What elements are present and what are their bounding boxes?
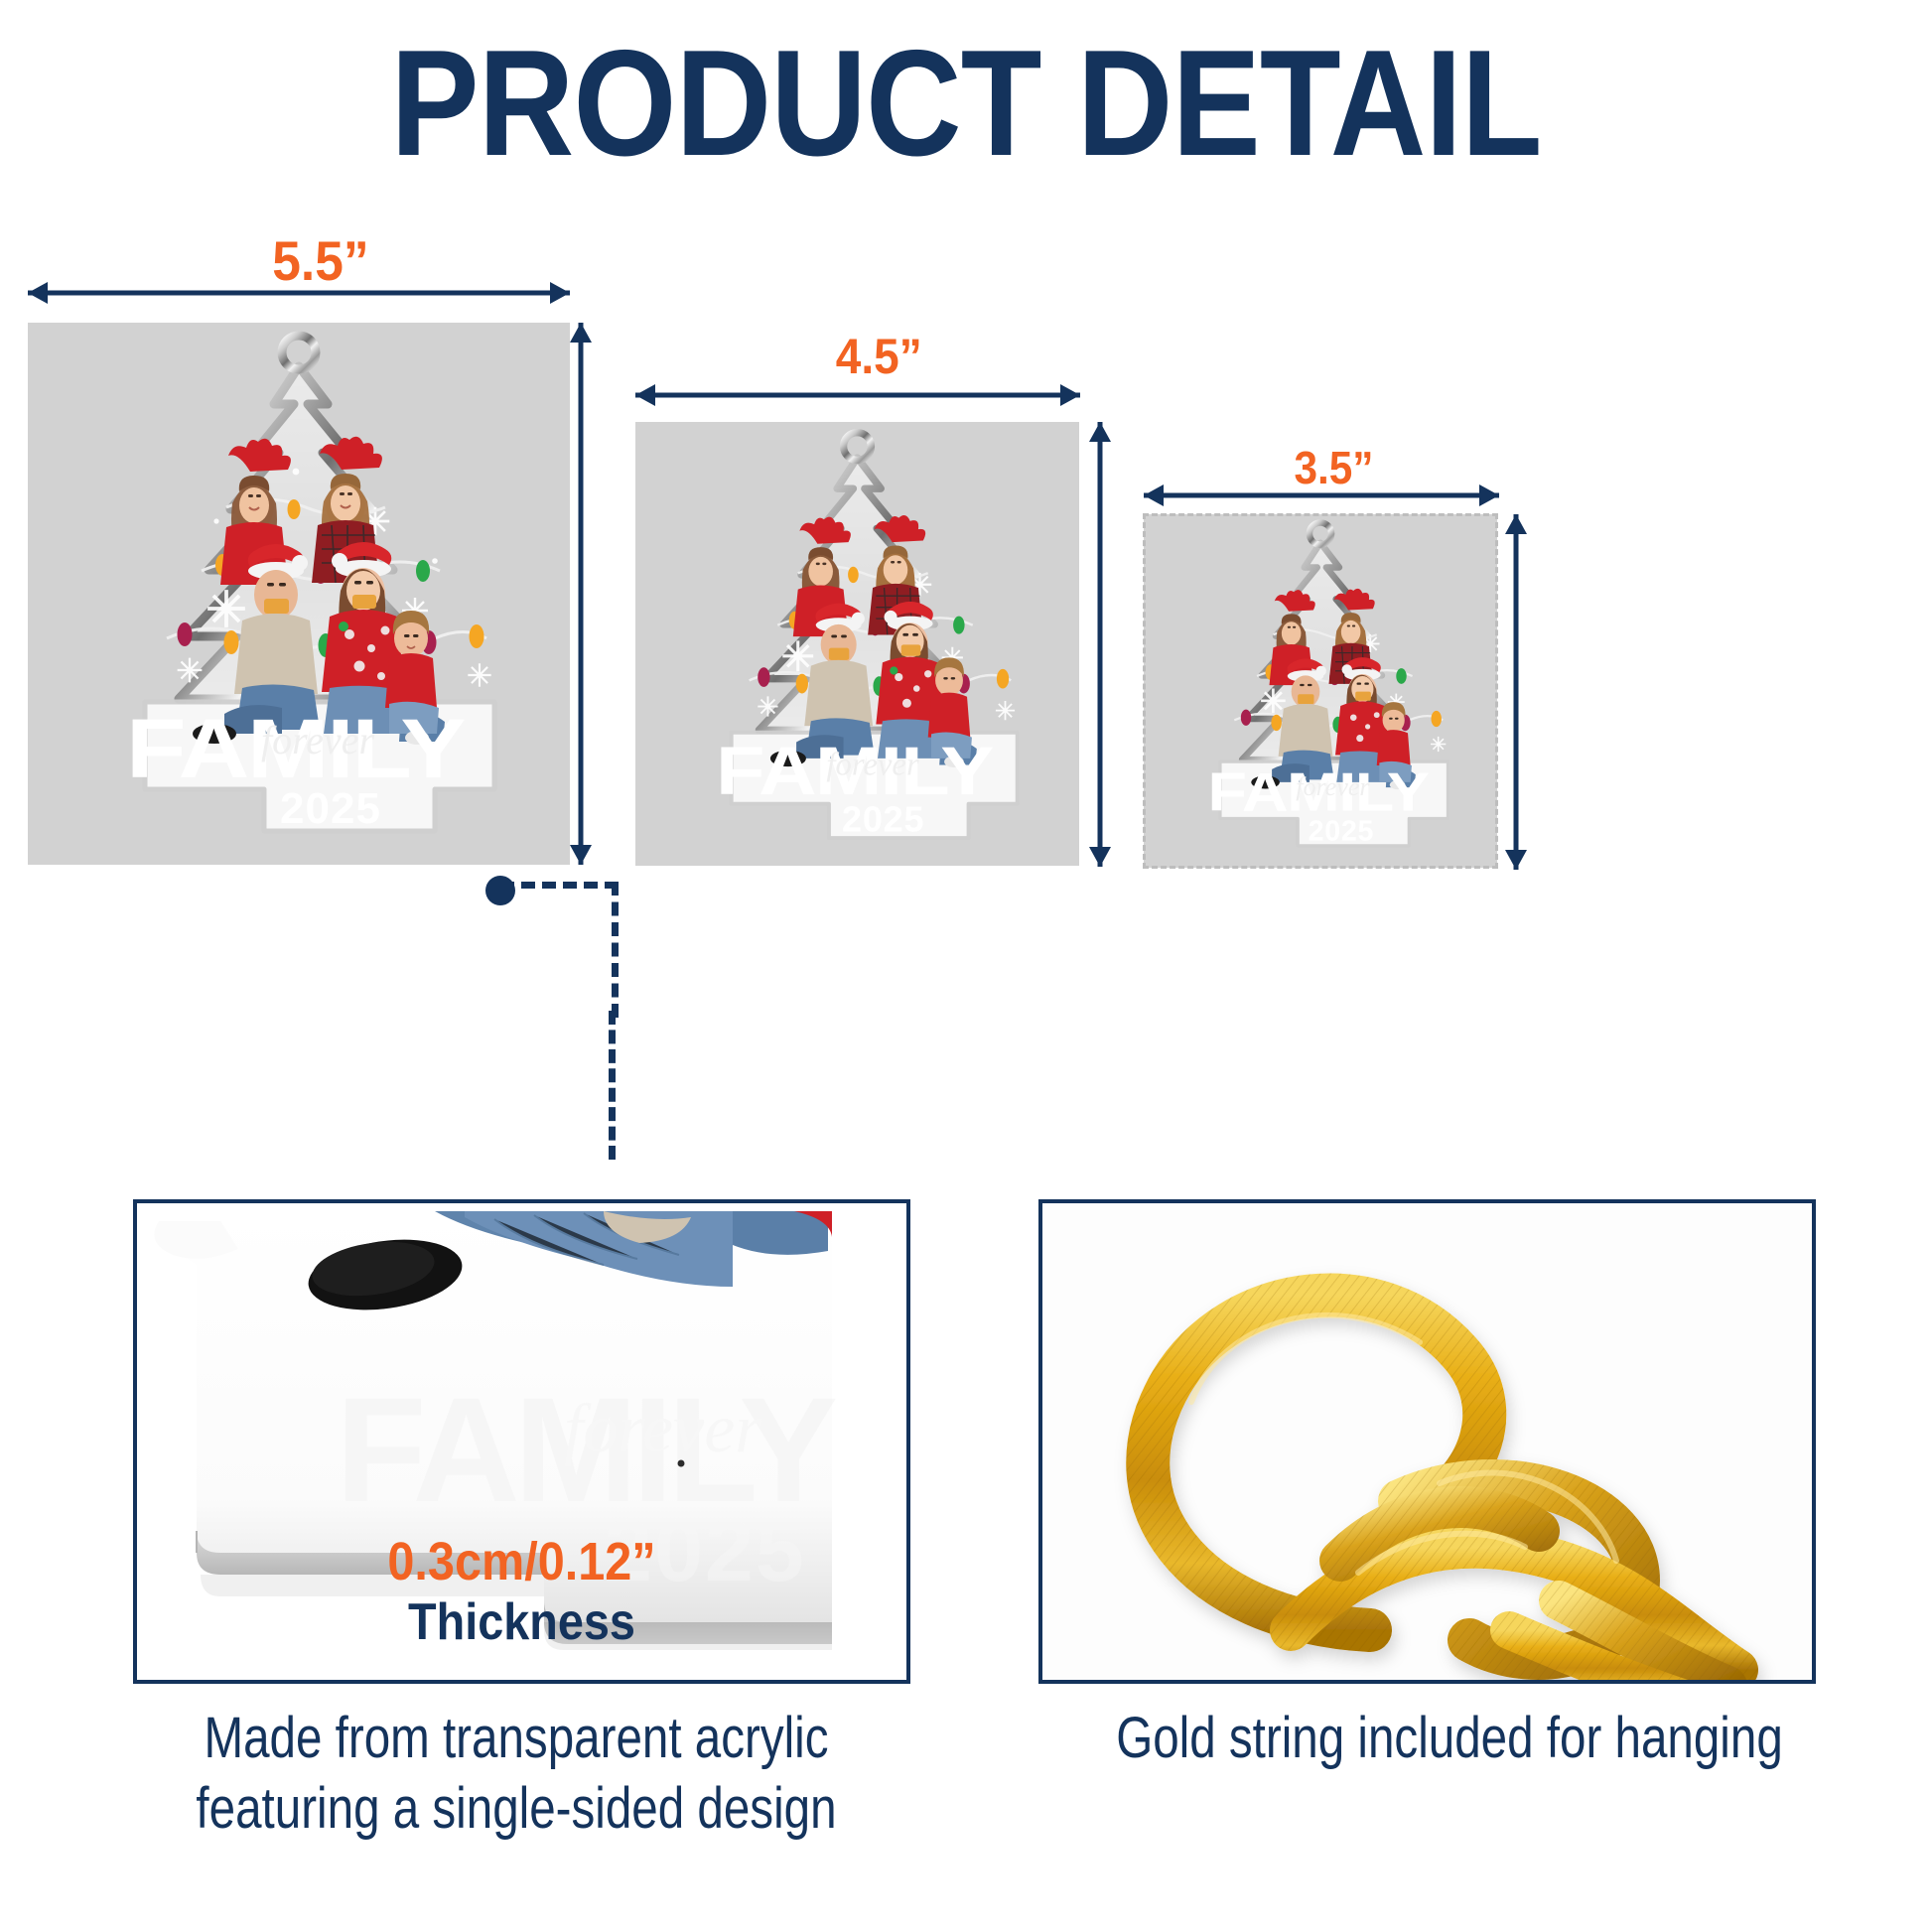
zoom-callout-leader [609,1011,616,1160]
ornament-medium: FAMILY forever 2025 [635,422,1079,866]
svg-text:2025: 2025 [280,784,381,833]
zoom-callout-box [500,882,619,1018]
dimension-arrow-vertical-large [568,323,594,865]
dimension-arrow-horizontal-large [28,280,570,306]
ornament-small: FAMILY forever 2025 [1144,514,1497,868]
thickness-label: Thickness [176,1592,869,1652]
svg-text:forever: forever [261,718,374,762]
caption-left-line2: featuring a single-sided design [150,1774,883,1845]
thickness-value: 0.3cm/0.12” [176,1531,869,1592]
dimension-arrow-horizontal-small [1144,484,1499,506]
arrow-down-icon [1505,850,1527,870]
dimension-arrow-horizontal-medium [635,383,1080,407]
arrow-up-icon [1089,422,1111,442]
arrow-up-icon [570,323,592,343]
caption-right-line1: Gold string included for hanging [1083,1704,1816,1774]
product-panel-small: FAMILY forever 2025 [1144,514,1497,868]
caption-left: Made from transparent acrylic featuring … [150,1704,883,1845]
caption-right: Gold string included for hanging [1083,1704,1816,1774]
product-panel-large: FAMILY forever 2025 [28,323,570,865]
arrow-down-icon [570,845,592,865]
arrow-right-icon [550,282,570,304]
arrow-right-icon [1479,484,1499,506]
arrow-right-icon [1060,384,1080,406]
svg-text:forever: forever [826,747,919,782]
caption-left-line1: Made from transparent acrylic [150,1704,883,1774]
arrow-left-icon [635,384,655,406]
ornament-large: FAMILY forever 2025 [28,323,570,865]
arrow-down-icon [1089,847,1111,867]
arrow-left-icon [28,282,48,304]
arrow-up-icon [1505,514,1527,534]
arrow-left-icon [1144,484,1164,506]
product-detail-infographic: PRODUCT DETAIL 5.5” [0,0,1932,1932]
thickness-callout-panel: FAMILY forever 2025 0.3cm/0.12” Thicknes… [133,1199,910,1684]
svg-text:2025: 2025 [1309,816,1374,848]
product-panel-medium: FAMILY forever 2025 [635,422,1079,866]
gold-string-callout-panel [1038,1199,1816,1684]
svg-text:2025: 2025 [842,799,924,840]
dimension-arrow-vertical-small [1505,514,1527,870]
gold-string-photo [1042,1203,1812,1680]
page-title: PRODUCT DETAIL [116,28,1816,179]
svg-text:forever: forever [564,1391,762,1467]
svg-text:forever: forever [1296,772,1370,801]
size-label-medium: 4.5” [836,328,922,385]
dimension-arrow-vertical-medium [1088,422,1112,867]
